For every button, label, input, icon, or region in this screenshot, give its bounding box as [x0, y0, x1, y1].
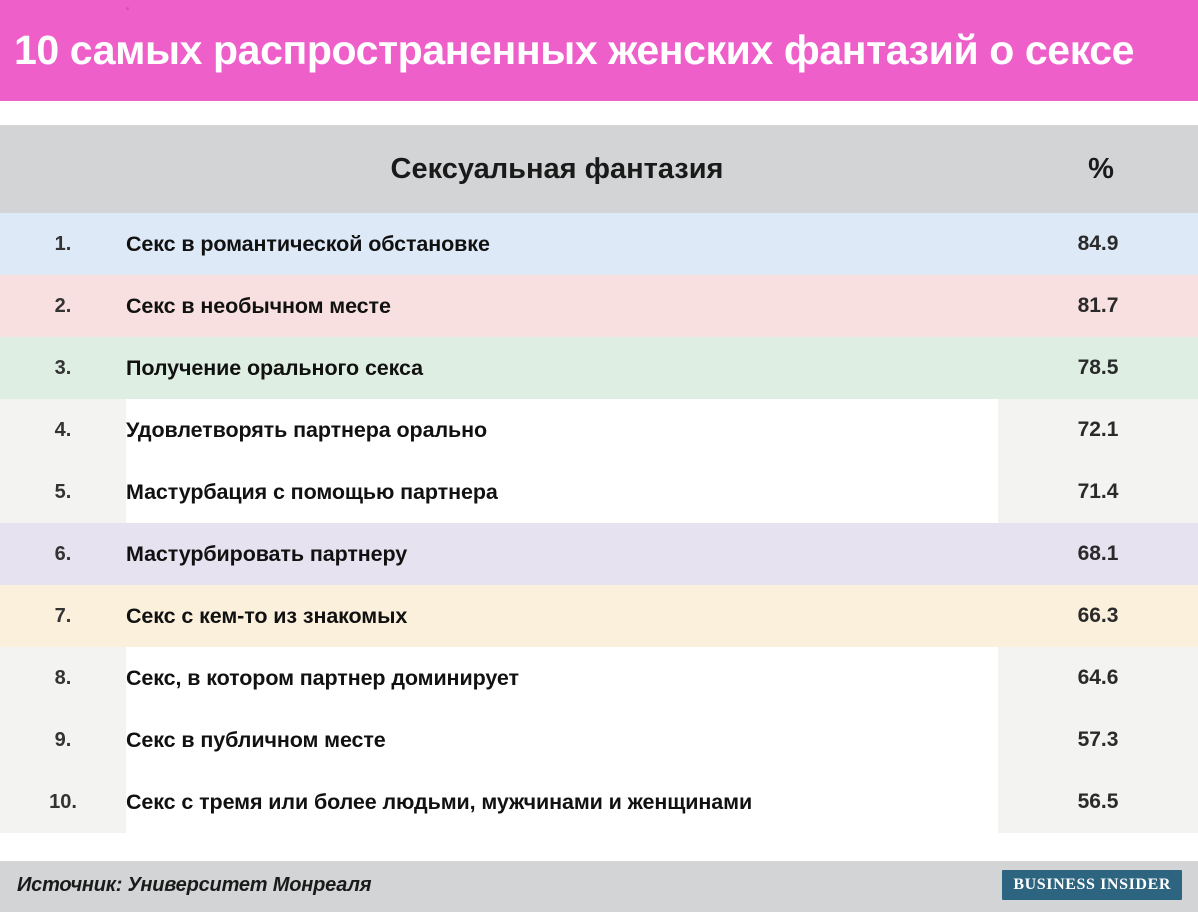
row-label: Секс, в котором партнер доминирует [126, 647, 998, 709]
row-rank: 2. [0, 275, 126, 337]
table-row: 3. Получение орального секса 78.5 [0, 337, 1198, 399]
business-insider-logo-text: BUSINESS INSIDER [1013, 876, 1171, 893]
row-percent: 66.3 [998, 585, 1198, 647]
row-label: Секс с кем-то из знакомых [126, 585, 998, 647]
table-row: 1. Секс в романтической обстановке 84.9 [0, 213, 1198, 275]
table-row: 7. Секс с кем-то из знакомых 66.3 [0, 585, 1198, 647]
row-label: Секс с тремя или более людьми, мужчинами… [126, 771, 998, 833]
row-percent: 78.5 [998, 337, 1198, 399]
fantasy-ranking-table: Сексуальная фантазия % 1. Секс в романти… [0, 125, 1198, 833]
row-rank: 9. [0, 709, 126, 771]
business-insider-logo: BUSINESS INSIDER [1002, 870, 1182, 900]
table-body: 1. Секс в романтической обстановке 84.9 … [0, 213, 1198, 833]
footer-bar: Источник: Университет Монреаля BUSINESS … [0, 861, 1198, 912]
row-label: Мастурбация с помощью партнера [126, 461, 998, 523]
source-note: Источник: Университет Монреаля [17, 874, 371, 897]
table-row: 6. Мастурбировать партнеру 68.1 [0, 523, 1198, 585]
table-row: 9. Секс в публичном месте 57.3 [0, 709, 1198, 771]
row-label: Секс в публичном месте [126, 709, 998, 771]
table-row: 5. Мастурбация с помощью партнера 71.4 [0, 461, 1198, 523]
table-row: 10. Секс с тремя или более людьми, мужчи… [0, 771, 1198, 833]
row-percent: 64.6 [998, 647, 1198, 709]
row-percent: 71.4 [998, 461, 1198, 523]
row-rank: 1. [0, 213, 126, 275]
infographic-page: 10 самых распространенных женских фантаз… [0, 0, 1198, 912]
row-rank: 3. [0, 337, 126, 399]
table-row: 2. Секс в необычном месте 81.7 [0, 275, 1198, 337]
table-header-row: Сексуальная фантазия % [0, 125, 1198, 213]
banner-speck [126, 7, 129, 10]
row-percent: 57.3 [998, 709, 1198, 771]
header-rank-column [0, 125, 126, 213]
row-rank: 10. [0, 771, 126, 833]
row-label: Удовлетворять партнера орально [126, 399, 998, 461]
row-rank: 4. [0, 399, 126, 461]
row-percent: 68.1 [998, 523, 1198, 585]
row-rank: 6. [0, 523, 126, 585]
row-rank: 7. [0, 585, 126, 647]
row-label: Секс в необычном месте [126, 275, 998, 337]
row-label: Получение орального секса [126, 337, 998, 399]
title-banner: 10 самых распространенных женских фантаз… [0, 0, 1198, 101]
row-rank: 8. [0, 647, 126, 709]
row-percent: 84.9 [998, 213, 1198, 275]
table-row: 8. Секс, в котором партнер доминирует 64… [0, 647, 1198, 709]
row-label: Мастурбировать партнеру [126, 523, 998, 585]
header-label-column: Сексуальная фантазия [126, 125, 998, 213]
page-title: 10 самых распространенных женских фантаз… [14, 25, 1184, 75]
header-percent-column: % [998, 125, 1198, 213]
row-percent: 81.7 [998, 275, 1198, 337]
row-percent: 72.1 [998, 399, 1198, 461]
row-percent: 56.5 [998, 771, 1198, 833]
table-row: 4. Удовлетворять партнера орально 72.1 [0, 399, 1198, 461]
row-rank: 5. [0, 461, 126, 523]
row-label: Секс в романтической обстановке [126, 213, 998, 275]
